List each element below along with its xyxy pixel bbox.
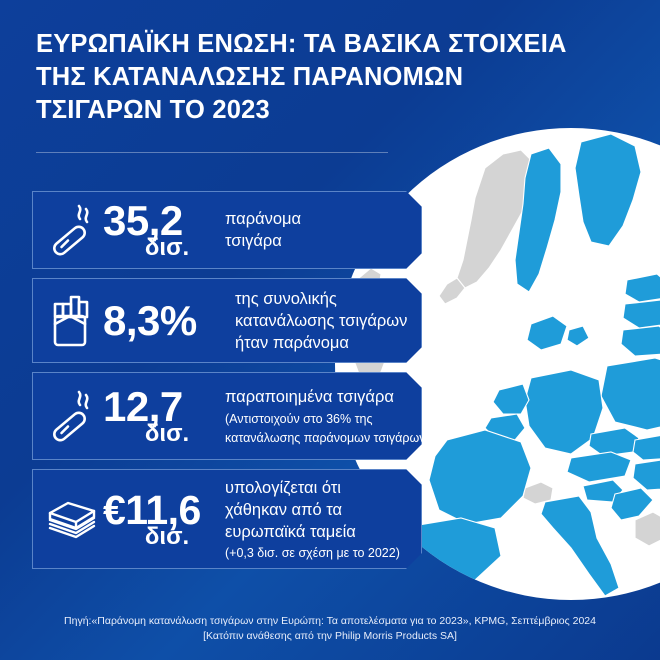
stat-value-group-4: €11,6 δισ. — [103, 490, 221, 548]
title-line-3: ΤΣΙΓΑΡΩΝ ΤΟ 2023 — [36, 94, 636, 127]
stat-value-group-2: 8,3% — [103, 301, 231, 341]
stat-value-group-1: 35,2 δισ. — [103, 201, 221, 259]
source-line-2: [Κατόπιν ανάθεσης από την Philip Morris … — [0, 629, 660, 644]
page-title: ΕΥΡΩΠΑΪΚΗ ΕΝΩΣΗ: ΤΑ ΒΑΣΙΚΑ ΣΤΟΙΧΕΙΑ ΤΗΣ … — [36, 28, 636, 127]
stat-text-1-line-2: τσιγάρα — [225, 230, 411, 252]
stat-value-group-3: 12,7 δισ. — [103, 387, 221, 445]
stat-text-2-line-1: της συνολικής — [235, 288, 411, 310]
stat-row-counterfeit-cigarettes: 12,7 δισ. παραποιημένα τσιγάρα (Αντιστοι… — [32, 372, 422, 460]
stat-note-3-line-1: (Αντιστοιχούν στο 36% της — [225, 411, 430, 428]
stat-text-4-line-2: χάθηκαν από τα — [225, 499, 411, 521]
stat-row-lost-revenue: €11,6 δισ. υπολογίζεται ότι χάθηκαν από … — [32, 469, 422, 569]
statistics-list: 35,2 δισ. παράνομα τσιγάρα — [32, 191, 422, 578]
stat-text-4-line-3: ευρωπαϊκά ταμεία — [225, 521, 411, 543]
source-footer: Πηγή:«Παράνομη κατανάλωση τσιγάρων στην … — [0, 614, 660, 644]
source-line-1: Πηγή:«Παράνομη κατανάλωση τσιγάρων στην … — [0, 614, 660, 629]
title-line-2: ΤΗΣ ΚΑΤΑΝΑΛΩΣΗΣ ΠΑΡΑΝΟΜΩΝ — [36, 61, 636, 94]
stat-text-4: υπολογίζεται ότι χάθηκαν από τα ευρωπαϊκ… — [221, 477, 411, 562]
stat-text-1: παράνομα τσιγάρα — [221, 208, 411, 252]
lit-cigarette-icon — [41, 389, 103, 443]
stat-text-3-line-1: παραποιημένα τσιγάρα — [225, 386, 430, 408]
cigarette-pack-icon — [41, 294, 103, 348]
stat-text-1-line-1: παράνομα — [225, 208, 411, 230]
infographic-canvas: ΕΥΡΩΠΑΪΚΗ ΕΝΩΣΗ: ΤΑ ΒΑΣΙΚΑ ΣΤΟΙΧΕΙΑ ΤΗΣ … — [0, 0, 660, 660]
banknotes-icon — [41, 497, 103, 541]
stat-value-2: 8,3% — [103, 301, 221, 341]
stat-text-3: παραποιημένα τσιγάρα (Αντιστοιχούν στο 3… — [221, 386, 430, 447]
stat-note-4: (+0,3 δισ. σε σχέση με το 2022) — [225, 545, 411, 562]
stat-text-2-line-2: κατανάλωσης τσιγάρων — [235, 310, 411, 332]
stat-text-4-line-1: υπολογίζεται ότι — [225, 477, 411, 499]
stat-row-illegal-cigarettes: 35,2 δισ. παράνομα τσιγάρα — [32, 191, 422, 269]
stat-row-share-of-consumption: 8,3% της συνολικής κατανάλωσης τσιγάρων … — [32, 278, 422, 363]
title-line-1: ΕΥΡΩΠΑΪΚΗ ΕΝΩΣΗ: ΤΑ ΒΑΣΙΚΑ ΣΤΟΙΧΕΙΑ — [36, 28, 636, 61]
stat-text-2: της συνολικής κατανάλωσης τσιγάρων ήταν … — [231, 288, 411, 354]
stat-note-3-line-2: κατανάλωσης παράνομων τσιγάρων) — [225, 430, 430, 447]
stat-text-2-line-3: ήταν παράνομα — [235, 332, 411, 354]
title-divider — [36, 152, 388, 153]
lit-cigarette-icon — [41, 203, 103, 257]
